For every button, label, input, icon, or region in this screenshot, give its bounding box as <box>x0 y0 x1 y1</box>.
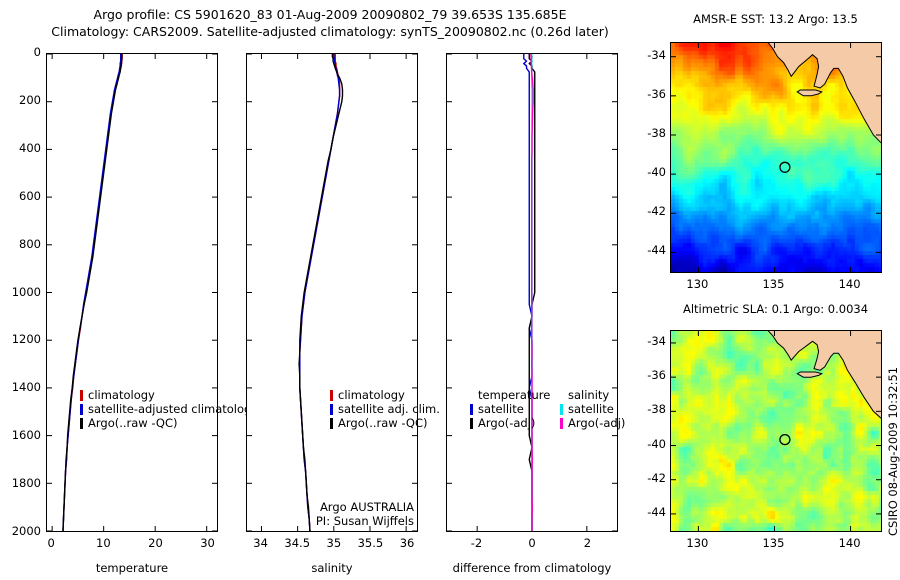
salinity-axis-label: salinity <box>246 561 418 575</box>
difference-legend-temperature: temperaturesatelliteArgo(-adj) <box>470 388 550 430</box>
legend-label: Argo(..raw -QC) <box>88 416 178 430</box>
sst-map-panel[interactable] <box>670 42 882 273</box>
temperature-legend-item: climatology <box>80 388 258 402</box>
legend-label: climatology <box>338 388 405 402</box>
sla-lat-tick--42: -42 <box>630 471 666 485</box>
sla-map-panel[interactable] <box>670 330 882 532</box>
sst-lat-tick--36: -36 <box>630 87 666 101</box>
depth-tick-1800: 1800 <box>0 476 41 490</box>
sla-lat-tick--36: -36 <box>630 368 666 382</box>
sst-lat-tick--34: -34 <box>630 48 666 62</box>
difference-temperature-legend-heading: temperature <box>470 388 550 402</box>
sst-map-overlay <box>671 43 881 272</box>
difference-profile-panel[interactable] <box>446 53 618 532</box>
legend-color-swatch <box>80 390 83 401</box>
depth-tick-1600: 1600 <box>0 428 41 442</box>
sst-lat-tick--42: -42 <box>630 204 666 218</box>
depth-tick-400: 400 <box>0 141 41 155</box>
depth-tick-1000: 1000 <box>0 285 41 299</box>
sst-lat-tick--44: -44 <box>630 243 666 257</box>
title-line-2: Climatology: CARS2009. Satellite-adjuste… <box>0 23 660 40</box>
csiro-timestamp: CSIRO 08-Aug-2009 10:32:51 <box>886 367 900 536</box>
legend-color-swatch <box>80 404 83 415</box>
legend-label: Argo(-adj) <box>568 416 625 430</box>
difference-salinity-legend-heading: salinity <box>560 388 625 402</box>
salinity-profile-plot <box>247 54 417 531</box>
depth-tick-600: 600 <box>0 189 41 203</box>
sla-map-overlay <box>671 331 881 531</box>
difference-tick-2: 2 <box>562 536 612 550</box>
sla-lon-tick-135: 135 <box>748 536 798 550</box>
temperature-tick-0: 0 <box>26 536 76 550</box>
depth-tick-200: 200 <box>0 93 41 107</box>
salinity-tick-36: 36 <box>382 536 432 550</box>
sla-lat-tick--44: -44 <box>630 505 666 519</box>
sla-lat-tick--38: -38 <box>630 402 666 416</box>
salinity-legend-item: satellite adj. clim. <box>330 402 440 416</box>
sla-lon-tick-140: 140 <box>825 536 875 550</box>
sla-lat-tick--40: -40 <box>630 437 666 451</box>
sst-lon-tick-135: 135 <box>748 277 798 291</box>
title-line-1: Argo profile: CS 5901620_83 01-Aug-2009 … <box>0 6 660 23</box>
depth-tick-800: 800 <box>0 237 41 251</box>
credit-line-2: PI: Susan Wijffels <box>258 514 414 528</box>
temperature-axis-label: temperature <box>46 561 218 575</box>
salinity-legend-item: climatology <box>330 388 440 402</box>
figure-title: Argo profile: CS 5901620_83 01-Aug-2009 … <box>0 6 660 40</box>
credit-line-1: Argo AUSTRALIA <box>258 500 414 514</box>
depth-tick-1400: 1400 <box>0 380 41 394</box>
depth-tick-1200: 1200 <box>0 332 41 346</box>
temperature-legend-item: satellite-adjusted climatology <box>80 402 258 416</box>
difference-temperature-legend-item: satellite <box>470 402 550 416</box>
legend-label: satellite adj. clim. <box>338 402 440 416</box>
temperature-tick-30: 30 <box>183 536 233 550</box>
temperature-profile-plot <box>47 54 217 531</box>
legend-color-swatch <box>330 404 333 415</box>
legend-label: satellite-adjusted climatology <box>88 402 258 416</box>
temperature-profile-panel[interactable] <box>46 53 218 532</box>
sst-lon-tick-130: 130 <box>672 277 722 291</box>
sst-lon-tick-140: 140 <box>825 277 875 291</box>
difference-temperature-legend-item: Argo(-adj) <box>470 416 550 430</box>
difference-tick-0: 0 <box>507 536 557 550</box>
argo-credit: Argo AUSTRALIA PI: Susan Wijffels <box>258 500 414 528</box>
temperature-legend-item: Argo(..raw -QC) <box>80 416 258 430</box>
difference-axis-label: difference from climatology <box>426 561 638 575</box>
legend-color-swatch <box>330 418 333 429</box>
difference-tick--2: -2 <box>452 536 502 550</box>
sla-map-title: Altimetric SLA: 0.1 Argo: 0.0034 <box>668 302 883 316</box>
depth-tick-0: 0 <box>0 45 41 59</box>
temperature-legend: climatologysatellite-adjusted climatolog… <box>80 388 258 430</box>
legend-color-swatch <box>560 404 563 415</box>
temperature-tick-10: 10 <box>78 536 128 550</box>
legend-label: climatology <box>88 388 155 402</box>
legend-label: satellite <box>568 402 614 416</box>
salinity-profile-panel[interactable] <box>246 53 418 532</box>
legend-label: satellite <box>478 402 524 416</box>
difference-profile-plot <box>447 54 617 531</box>
legend-color-swatch <box>470 418 473 429</box>
legend-color-swatch <box>470 404 473 415</box>
sla-lon-tick-130: 130 <box>672 536 722 550</box>
sst-map-title: AMSR-E SST: 13.2 Argo: 13.5 <box>668 12 883 26</box>
legend-label: Argo(..raw -QC) <box>338 416 428 430</box>
sla-lat-tick--34: -34 <box>630 334 666 348</box>
sst-lat-tick--38: -38 <box>630 126 666 140</box>
difference-salinity-legend-item: satellite <box>560 402 625 416</box>
legend-color-swatch <box>330 390 333 401</box>
difference-salinity-legend-item: Argo(-adj) <box>560 416 625 430</box>
difference-legend-salinity: salinitysatelliteArgo(-adj) <box>560 388 625 430</box>
legend-color-swatch <box>80 418 83 429</box>
salinity-legend-item: Argo(..raw -QC) <box>330 416 440 430</box>
temperature-tick-20: 20 <box>130 536 180 550</box>
legend-color-swatch <box>560 418 563 429</box>
sst-lat-tick--40: -40 <box>630 165 666 179</box>
legend-label: Argo(-adj) <box>478 416 535 430</box>
salinity-legend: climatologysatellite adj. clim.Argo(..ra… <box>330 388 440 430</box>
